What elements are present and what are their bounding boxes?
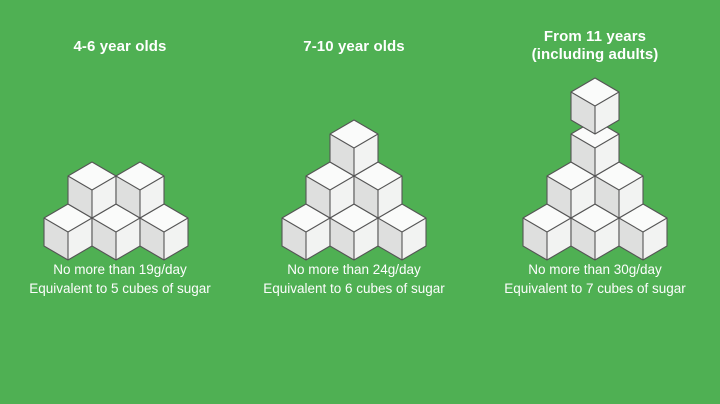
cube-stack-4-6-graphic — [0, 140, 240, 360]
age-group-column-4-6: 4-6 year olds — [0, 0, 240, 404]
sugar-intake-infographic: 4-6 year olds — [0, 0, 720, 404]
cube-stack-4-6 — [0, 140, 240, 360]
cube-stack-11-plus-graphic — [470, 72, 720, 292]
age-group-column-11-plus: From 11 years (including adults) — [470, 0, 720, 404]
age-group-column-7-10: 7-10 year olds — [232, 0, 476, 404]
column-heading-7-10: 7-10 year olds — [232, 38, 476, 56]
column-caption-4-6: No more than 19g/day Equivalent to 5 cub… — [0, 260, 240, 298]
cube-stack-11-plus — [470, 72, 720, 292]
column-caption-11-plus: No more than 30g/day Equivalent to 7 cub… — [470, 260, 720, 298]
sugar-cube — [571, 78, 619, 134]
column-caption-7-10: No more than 24g/day Equivalent to 6 cub… — [232, 260, 476, 298]
column-heading-11-plus: From 11 years (including adults) — [470, 28, 720, 64]
column-heading-4-6: 4-6 year olds — [0, 38, 240, 56]
